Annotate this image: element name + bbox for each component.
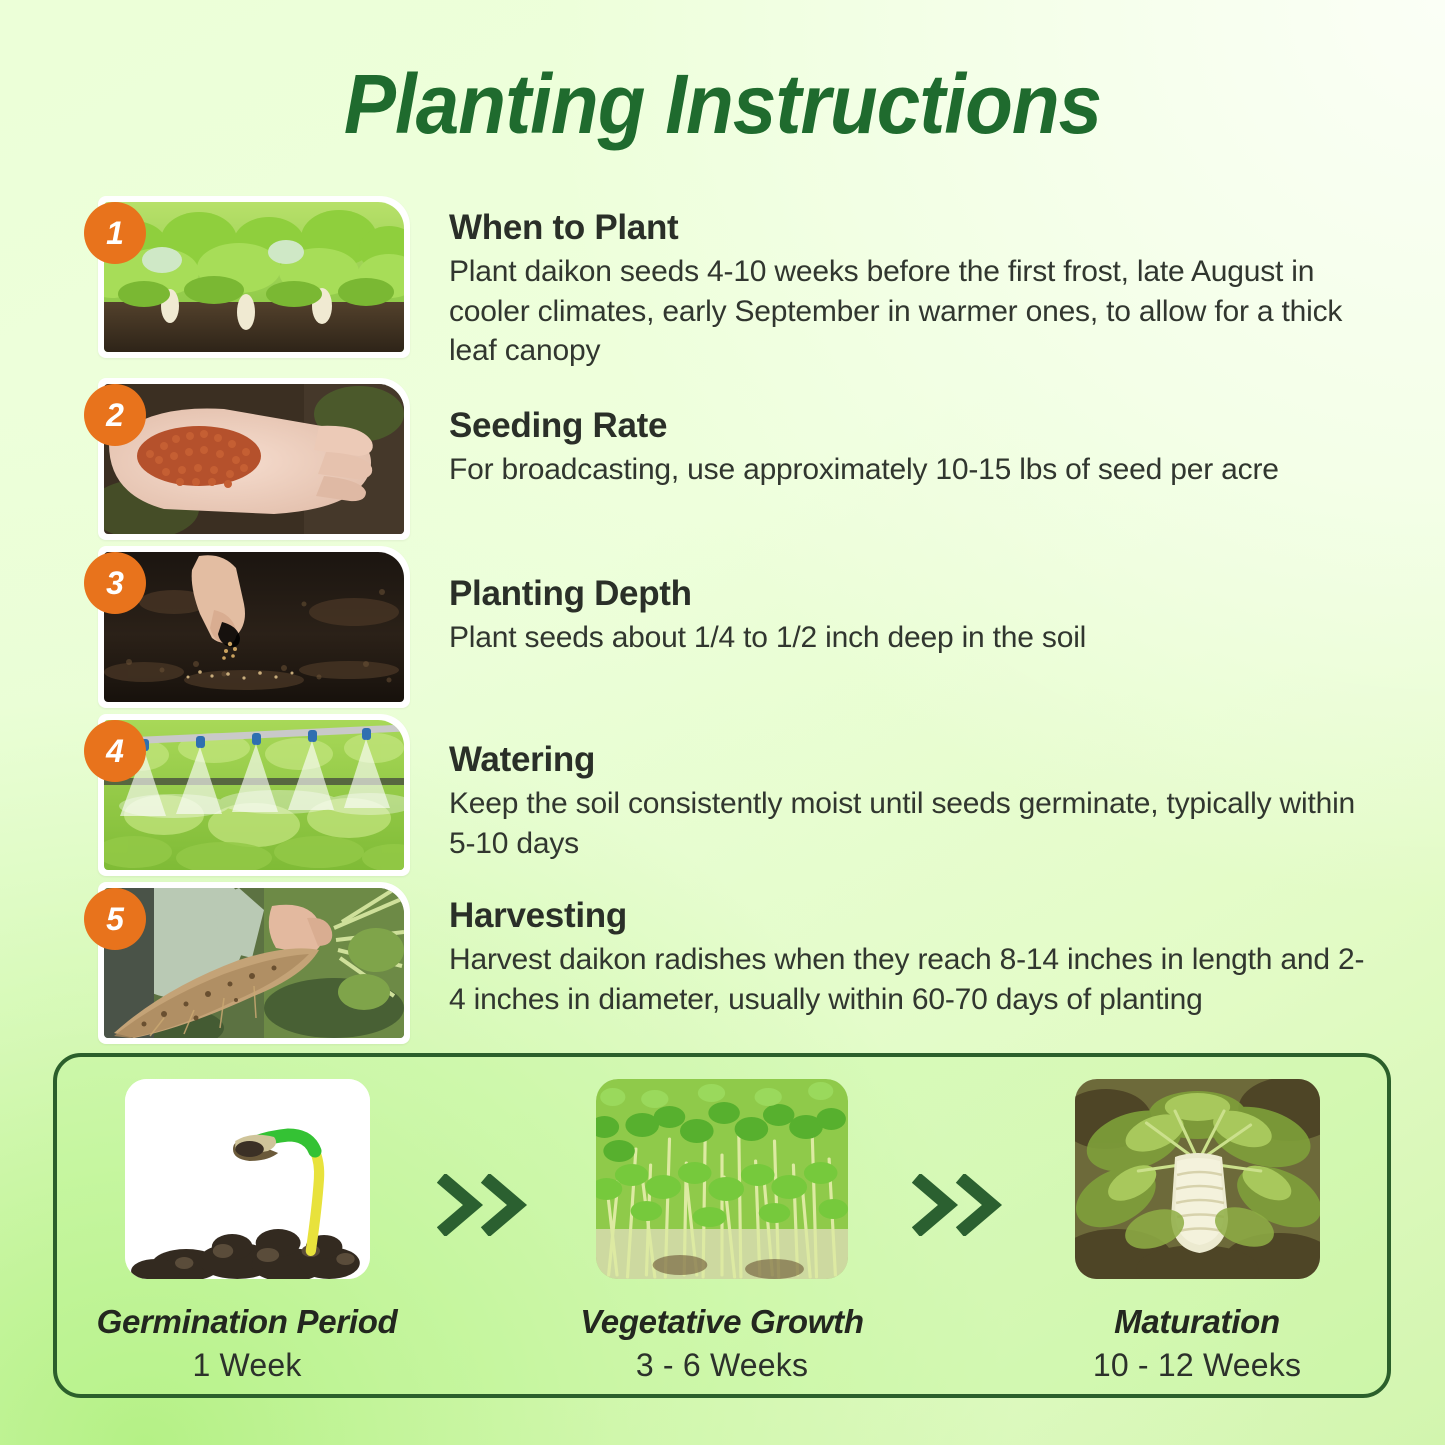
step-number-badge: 5 [84, 888, 146, 950]
double-chevron-right-icon [905, 1079, 1015, 1236]
hand-holding-seeds-photo [104, 384, 404, 534]
step-item: 1 When to Plant Plant daikon seeds 4-10 … [0, 196, 1445, 378]
step-number-badge: 4 [84, 720, 146, 782]
timeline-stage-value: 1 Week [192, 1347, 301, 1384]
step-text-block: Watering Keep the soil consistently mois… [449, 740, 1379, 863]
timeline-stage-label: Vegetative Growth [580, 1303, 863, 1341]
step-thumbnail: 2 [98, 378, 410, 540]
timeline-stage-label: Germination Period [97, 1303, 398, 1341]
step-heading: Watering [449, 740, 1379, 780]
step-thumbnail: 1 [98, 196, 410, 358]
mature-daikon-radish-photo [1075, 1079, 1320, 1279]
step-body: Plant daikon seeds 4-10 weeks before the… [449, 252, 1379, 371]
step-item: 3 Planting Depth Plant seeds about 1/4 t… [0, 546, 1445, 714]
growth-timeline-box: Germination Period 1 Week [53, 1053, 1391, 1398]
step-heading: Seeding Rate [449, 406, 1379, 446]
step-text-block: Harvesting Harvest daikon radishes when … [449, 896, 1379, 1019]
step-text-block: When to Plant Plant daikon seeds 4-10 we… [449, 208, 1379, 371]
timeline-stage-vegetative: Vegetative Growth 3 - 6 Weeks [572, 1079, 872, 1384]
step-number-badge: 2 [84, 384, 146, 446]
step-body: Keep the soil consistently moist until s… [449, 784, 1379, 863]
sprinkler-irrigation-photo [104, 720, 404, 870]
timeline-stage-maturation: Maturation 10 - 12 Weeks [1047, 1079, 1347, 1384]
timeline-stage-value: 10 - 12 Weeks [1093, 1347, 1301, 1384]
step-heading: When to Plant [449, 208, 1379, 248]
hand-sowing-seeds-in-soil-photo [104, 552, 404, 702]
thumbnail-card [98, 714, 410, 876]
step-number-badge: 1 [84, 202, 146, 264]
thumbnail-card [98, 882, 410, 1044]
thumbnail-card [98, 546, 410, 708]
step-thumbnail: 4 [98, 714, 410, 876]
double-chevron-right-icon [430, 1079, 540, 1236]
step-body: Plant seeds about 1/4 to 1/2 inch deep i… [449, 618, 1379, 658]
step-item: 4 Watering Keep the soil consistently mo… [0, 714, 1445, 882]
harvesting-daikon-by-hand-photo [104, 888, 404, 1038]
step-text-block: Planting Depth Plant seeds about 1/4 to … [449, 574, 1379, 658]
step-heading: Planting Depth [449, 574, 1379, 614]
step-heading: Harvesting [449, 896, 1379, 936]
page-title: Planting Instructions [51, 62, 1395, 146]
step-body: For broadcasting, use approximately 10-1… [449, 450, 1379, 490]
step-body: Harvest daikon radishes when they reach … [449, 940, 1379, 1019]
infographic-page: Planting Instructions [0, 0, 1445, 1445]
planting-steps-list: 1 When to Plant Plant daikon seeds 4-10 … [0, 196, 1445, 1064]
step-number-badge: 3 [84, 552, 146, 614]
step-item: 2 Seeding Rate For broadcasting, use app… [0, 378, 1445, 546]
growth-timeline-row: Germination Period 1 Week [57, 1057, 1387, 1394]
timeline-stage-value: 3 - 6 Weeks [636, 1347, 808, 1384]
microgreens-seedlings-photo [596, 1079, 848, 1279]
thumbnail-card [98, 378, 410, 540]
step-text-block: Seeding Rate For broadcasting, use appro… [449, 406, 1379, 490]
step-thumbnail: 3 [98, 546, 410, 708]
step-item: 5 Harvesting Harvest daikon radishes whe… [0, 882, 1445, 1064]
thumbnail-card [98, 196, 410, 358]
step-thumbnail: 5 [98, 882, 410, 1044]
timeline-stage-germination: Germination Period 1 Week [97, 1079, 397, 1384]
timeline-stage-label: Maturation [1114, 1303, 1280, 1341]
sprouting-seedling-photo [125, 1079, 370, 1279]
daikon-field-rows-photo [104, 202, 404, 352]
